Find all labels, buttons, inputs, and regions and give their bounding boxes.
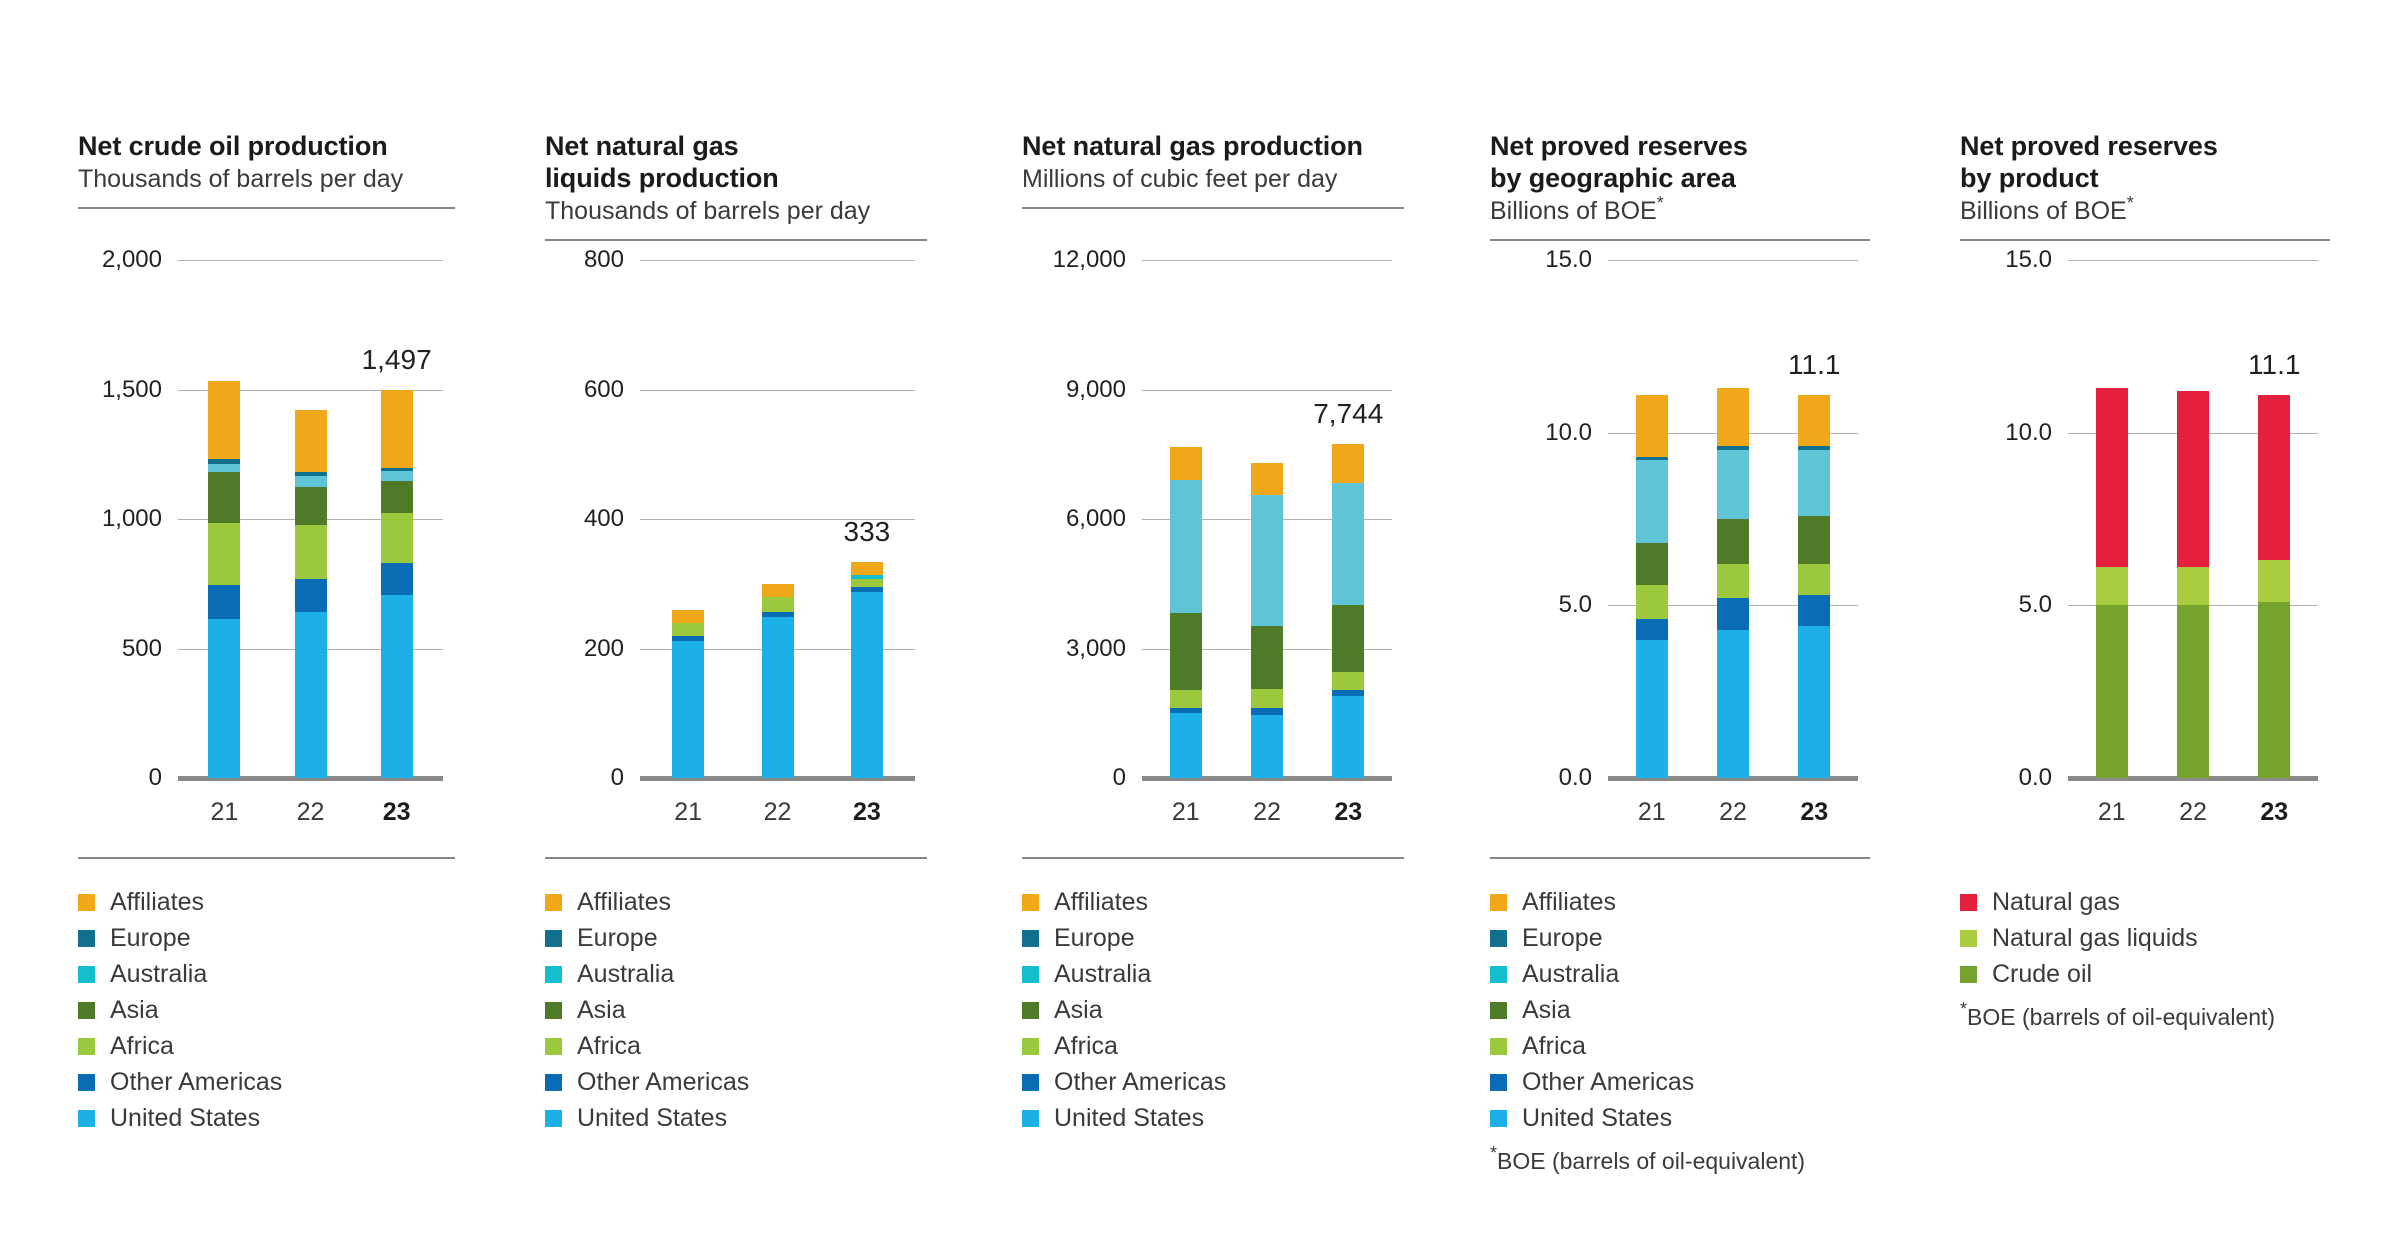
bar-segment-africa [1251,689,1283,708]
footnote-marker-icon: * [1960,999,1967,1019]
y-axis-tick-label: 200 [545,635,624,663]
bar-segment-africa [851,579,883,587]
x-axis-label-21: 21 [648,798,728,827]
legend-item-label: Australia [1054,962,1151,987]
bar-segment-asia [1251,626,1283,690]
legend-item-label: Natural gas [1992,890,2120,915]
bar-segment-affiliates [208,381,240,459]
legend-rule [545,857,927,859]
bar-segment-africa [762,597,794,611]
legend-item-affiliates[interactable]: Affiliates [78,884,498,920]
x-axis-label-22: 22 [1693,798,1773,827]
bar-segment-united-states [381,595,413,778]
bar-segment-asia [1717,519,1749,564]
bar-segment-affiliates [1170,447,1202,480]
y-axis-tick-label: 6,000 [1022,505,1126,533]
y-axis-tick-label: 0 [1022,764,1126,792]
legend-swatch-icon [78,1074,95,1091]
legend-item-europe[interactable]: Europe [1022,920,1442,956]
legend-item-africa[interactable]: Africa [1022,1028,1442,1064]
legend-swatch-icon [545,894,562,911]
legend-swatch-icon [1490,894,1507,911]
legend-item-label: United States [110,1106,260,1131]
legend-item-label: Asia [1522,998,1571,1023]
y-axis-tick-label: 5.0 [1490,591,1592,619]
y-axis-tick-label: 9,000 [1022,376,1126,404]
legend-swatch-icon [1490,966,1507,983]
legend-item-united-states[interactable]: United States [1022,1100,1442,1136]
legend-item-label: Other Americas [110,1070,282,1095]
y-axis-tick-label: 0.0 [1960,764,2052,792]
legend-item-label: Africa [577,1034,641,1059]
gridline [1142,390,1392,391]
legend-item-africa[interactable]: Africa [78,1028,498,1064]
bar-21[interactable] [2096,388,2128,778]
legend-item-europe[interactable]: Europe [1490,920,1910,956]
bar-segment-asia [1636,543,1668,584]
legend-swatch-icon [1022,1038,1039,1055]
x-axis-label-21: 21 [1612,798,1692,827]
footnote-marker-icon: * [1490,1143,1497,1163]
y-axis-tick-label: 400 [545,505,624,533]
bar-segment-australia [1798,450,1830,516]
legend-item-label: Affiliates [1054,890,1148,915]
bar-23[interactable] [2258,395,2290,778]
bar-21[interactable] [1170,447,1202,778]
bar-segment-natural-gas-liquids [2258,560,2290,601]
bar-value-label: 7,744 [1278,398,1418,430]
bar-segment-asia [1798,516,1830,564]
bar-segment-united-states [1717,630,1749,778]
bar-segment-affiliates [1251,463,1283,495]
y-axis-tick-label: 5.0 [1960,591,2052,619]
chart-legend-net-proved-reserves-by-product: Natural gasNatural gas liquidsCrude oil*… [1960,884,2380,1031]
legend-item-other-americas[interactable]: Other Americas [545,1064,975,1100]
bar-segment-africa [1636,585,1668,620]
legend-item-label: Europe [577,926,658,951]
bar-segment-affiliates [851,562,883,575]
legend-swatch-icon [78,1038,95,1055]
chart-footnote-text: BOE (barrels of oil-equivalent) [1497,1148,1805,1174]
legend-swatch-icon [1490,930,1507,947]
legend-swatch-icon [545,930,562,947]
legend-item-asia[interactable]: Asia [1490,992,1910,1028]
legend-item-label: Asia [1054,998,1103,1023]
bar-segment-crude-oil [2096,605,2128,778]
legend-swatch-icon [1960,966,1977,983]
legend-item-other-americas[interactable]: Other Americas [78,1064,498,1100]
y-axis-tick-label: 2,000 [78,246,162,274]
gridline [640,390,915,391]
gridline [1608,260,1858,261]
bar-segment-asia [381,481,413,512]
y-axis-tick-label: 0 [545,764,624,792]
bar-segment-united-states [672,641,704,778]
legend-item-label: United States [1522,1106,1672,1131]
x-axis-label-23: 23 [1308,798,1388,827]
bar-segment-united-states [1251,715,1283,778]
bar-segment-crude-oil [2258,602,2290,778]
bar-segment-africa [1717,564,1749,599]
bar-segment-other-americas [1798,595,1830,626]
bar-segment-affiliates [295,410,327,472]
bar-segment-united-states [208,619,240,778]
bar-segment-other-americas [1717,598,1749,629]
legend-swatch-icon [1490,1074,1507,1091]
bar-23[interactable] [1332,444,1364,778]
bar-segment-asia [1332,605,1364,672]
legend-item-label: Other Americas [1522,1070,1694,1095]
bar-segment-crude-oil [2177,605,2209,778]
chart-legend-net-crude-oil-production: AffiliatesEuropeAustraliaAsiaAfricaOther… [78,884,498,1136]
bar-segment-asia [208,472,240,523]
legend-item-label: Other Americas [1054,1070,1226,1095]
bar-22[interactable] [1717,388,1749,778]
legend-item-label: Africa [1522,1034,1586,1059]
bar-22[interactable] [762,584,794,778]
legend-item-africa[interactable]: Africa [545,1028,975,1064]
bar-21[interactable] [1636,395,1668,778]
bar-segment-united-states [1636,640,1668,778]
legend-swatch-icon [1022,1110,1039,1127]
bar-segment-affiliates [762,584,794,597]
legend-item-label: Asia [110,998,159,1023]
legend-swatch-icon [1022,1002,1039,1019]
chart-footnote: *BOE (barrels of oil-equivalent) [1960,1004,2380,1031]
bar-segment-africa [1798,564,1830,595]
bar-22[interactable] [2177,391,2209,778]
legend-swatch-icon [1022,894,1039,911]
gridline [640,260,915,261]
bar-segment-united-states [1332,696,1364,778]
legend-swatch-icon [545,1074,562,1091]
gridline [2068,260,2318,261]
legend-item-europe[interactable]: Europe [545,920,975,956]
bar-segment-united-states [295,612,327,778]
legend-item-label: United States [1054,1106,1204,1131]
legend-swatch-icon [545,1002,562,1019]
bar-segment-united-states [762,617,794,778]
bar-segment-africa [295,525,327,579]
y-axis-tick-label: 0 [78,764,162,792]
legend-swatch-icon [78,930,95,947]
bar-21[interactable] [208,381,240,778]
legend-swatch-icon [78,894,95,911]
bar-segment-africa [1332,672,1364,690]
bar-23[interactable] [381,390,413,778]
legend-item-label: Europe [1054,926,1135,951]
bar-segment-africa [672,623,704,637]
legend-item-label: Australia [1522,962,1619,987]
bar-23[interactable] [1798,395,1830,778]
bar-segment-united-states [1798,626,1830,778]
bar-value-label: 333 [797,516,937,548]
bar-segment-africa [381,513,413,564]
legend-item-label: Australia [110,962,207,987]
legend-item-europe[interactable]: Europe [78,920,498,956]
bar-segment-affiliates [381,390,413,467]
legend-rule [78,857,455,859]
legend-item-label: Asia [577,998,626,1023]
x-axis-label-22: 22 [1227,798,1307,827]
legend-item-asia[interactable]: Asia [78,992,498,1028]
legend-item-affiliates[interactable]: Affiliates [1022,884,1442,920]
y-axis-tick-label: 800 [545,246,624,274]
bar-value-label: 11.1 [2204,349,2344,381]
bar-segment-natural-gas [2096,388,2128,568]
y-axis-tick-label: 0.0 [1490,764,1592,792]
legend-item-natural-gas[interactable]: Natural gas [1960,884,2380,920]
bar-segment-natural-gas [2177,391,2209,567]
bar-segment-natural-gas [2258,395,2290,561]
legend-item-label: Crude oil [1992,962,2092,987]
bar-value-label: 11.1 [1744,349,1884,381]
legend-item-united-states[interactable]: United States [545,1100,975,1136]
y-axis-tick-label: 1,500 [78,376,162,404]
bar-segment-affiliates [1717,388,1749,447]
chart-legend-net-proved-reserves-by-geographic-area: AffiliatesEuropeAustraliaAsiaAfricaOther… [1490,884,1910,1175]
chart-legend-net-natural-gas-liquids-production: AffiliatesEuropeAustraliaAsiaAfricaOther… [545,884,975,1136]
bar-segment-australia [1332,483,1364,605]
bar-22[interactable] [295,410,327,778]
x-axis-label-21: 21 [184,798,264,827]
x-axis-label-21: 21 [1146,798,1226,827]
x-axis-label-23: 23 [827,798,907,827]
bar-segment-affiliates [1636,395,1668,457]
bar-segment-united-states [851,592,883,778]
legend-item-label: Europe [1522,926,1603,951]
legend-swatch-icon [1490,1038,1507,1055]
y-axis-tick-label: 15.0 [1960,246,2052,274]
legend-item-label: Affiliates [110,890,204,915]
y-axis-tick-label: 15.0 [1490,246,1592,274]
bar-segment-natural-gas-liquids [2096,567,2128,605]
legend-item-label: Other Americas [577,1070,749,1095]
gridline [1142,260,1392,261]
bar-23[interactable] [851,562,883,778]
bar-segment-other-americas [208,585,240,619]
legend-item-australia[interactable]: Australia [545,956,975,992]
legend-item-label: Affiliates [1522,890,1616,915]
legend-swatch-icon [1960,894,1977,911]
legend-item-label: United States [577,1106,727,1131]
x-axis-label-22: 22 [2153,798,2233,827]
bar-segment-australia [381,471,413,481]
x-axis-label-23: 23 [1774,798,1854,827]
bar-segment-asia [1170,613,1202,690]
legend-item-africa[interactable]: Africa [1490,1028,1910,1064]
legend-item-united-states[interactable]: United States [1490,1100,1910,1136]
y-axis-tick-label: 10.0 [1490,419,1592,447]
legend-swatch-icon [1490,1110,1507,1127]
bar-segment-australia [1717,450,1749,519]
bar-segment-affiliates [672,610,704,622]
legend-item-australia[interactable]: Australia [78,956,498,992]
y-axis-tick-label: 1,000 [78,505,162,533]
bar-segment-asia [295,487,327,525]
infographic-page: Net crude oil productionThousands of bar… [0,0,2400,1240]
legend-item-natural-gas-liquids[interactable]: Natural gas liquids [1960,920,2380,956]
chart-footnote: *BOE (barrels of oil-equivalent) [1490,1148,1910,1175]
bar-21[interactable] [672,610,704,778]
legend-swatch-icon [1022,1074,1039,1091]
x-axis-label-23: 23 [357,798,437,827]
legend-item-asia[interactable]: Asia [1022,992,1442,1028]
bar-segment-africa [1170,690,1202,708]
bar-segment-australia [1636,460,1668,543]
y-axis-tick-label: 3,000 [1022,635,1126,663]
bar-segment-affiliates [1332,444,1364,483]
legend-item-other-americas[interactable]: Other Americas [1490,1064,1910,1100]
legend-item-label: Africa [110,1034,174,1059]
x-axis-label-22: 22 [271,798,351,827]
legend-item-label: Natural gas liquids [1992,926,2198,951]
legend-swatch-icon [78,966,95,983]
legend-swatch-icon [1490,1002,1507,1019]
legend-rule [1490,857,1870,859]
legend-swatch-icon [545,966,562,983]
legend-rule [1022,857,1404,859]
legend-item-label: Africa [1054,1034,1118,1059]
bar-value-label: 1,497 [327,344,467,376]
legend-swatch-icon [78,1002,95,1019]
y-axis-tick-label: 600 [545,376,624,404]
legend-item-other-americas[interactable]: Other Americas [1022,1064,1442,1100]
legend-item-australia[interactable]: Australia [1022,956,1442,992]
legend-swatch-icon [545,1038,562,1055]
x-axis-label-22: 22 [738,798,818,827]
y-axis-tick-label: 10.0 [1960,419,2052,447]
x-axis-label-23: 23 [2234,798,2314,827]
y-axis-tick-label: 12,000 [1022,246,1126,274]
legend-swatch-icon [1022,966,1039,983]
bar-segment-other-americas [1636,619,1668,640]
bar-segment-australia [1170,480,1202,613]
x-axis-label-21: 21 [2072,798,2152,827]
gridline [178,260,443,261]
bar-22[interactable] [1251,463,1283,778]
legend-item-affiliates[interactable]: Affiliates [1490,884,1910,920]
legend-item-label: Europe [110,926,191,951]
bar-segment-australia [295,476,327,487]
legend-item-crude-oil[interactable]: Crude oil [1960,956,2380,992]
legend-swatch-icon [1960,930,1977,947]
legend-swatch-icon [1022,930,1039,947]
legend-item-label: Affiliates [577,890,671,915]
chart-legend-net-natural-gas-production: AffiliatesEuropeAustraliaAsiaAfricaOther… [1022,884,1442,1136]
bar-segment-australia [1251,495,1283,626]
legend-item-australia[interactable]: Australia [1490,956,1910,992]
bar-segment-affiliates [1798,395,1830,447]
legend-swatch-icon [545,1110,562,1127]
legend-swatch-icon [78,1110,95,1127]
bar-segment-other-americas [295,579,327,613]
chart-footnote-text: BOE (barrels of oil-equivalent) [1967,1004,2275,1030]
y-axis-tick-label: 500 [78,635,162,663]
bar-segment-africa [208,523,240,585]
legend-item-affiliates[interactable]: Affiliates [545,884,975,920]
bar-segment-other-americas [381,563,413,595]
legend-item-label: Australia [577,962,674,987]
bar-segment-australia [208,464,240,473]
bar-segment-natural-gas-liquids [2177,567,2209,605]
bar-segment-united-states [1170,713,1202,778]
legend-item-asia[interactable]: Asia [545,992,975,1028]
chart-plot-net-proved-reserves-by-product: 0.05.010.015.021222311.1 [1960,0,2320,1240]
legend-item-united-states[interactable]: United States [78,1100,498,1136]
